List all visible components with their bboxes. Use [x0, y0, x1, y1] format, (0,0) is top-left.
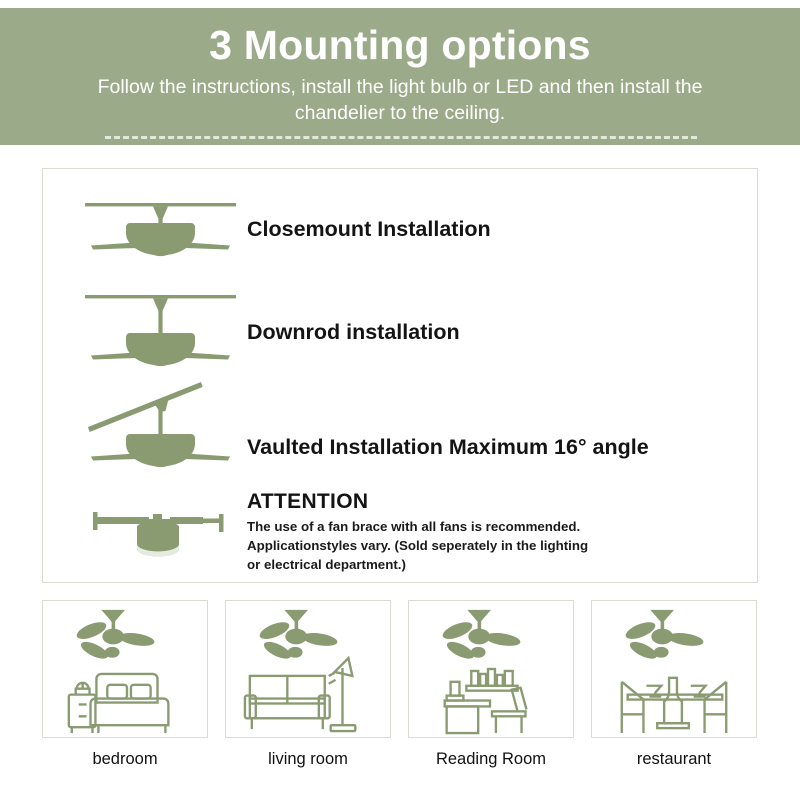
closemount-fan-icon	[83, 193, 238, 267]
downrod-fan-icon	[83, 289, 238, 375]
vaulted-fan-icon	[83, 379, 238, 475]
instruction-label-closemount: Closemount Installation	[247, 217, 491, 242]
room-gallery: bedroom	[42, 600, 758, 790]
instruction-label-vaulted: Vaulted Installation Maximum 16° angle	[247, 435, 649, 460]
attention-line: or electrical department.)	[247, 556, 717, 575]
instruction-row-downrod: Downrod installation	[43, 289, 757, 375]
room-caption-living-room: living room	[225, 750, 391, 769]
room-card-living-room[interactable]	[225, 600, 391, 738]
bedroom-scene-icon	[43, 601, 207, 737]
fan-brace-icon	[83, 500, 238, 570]
room-card-reading-room[interactable]	[408, 600, 574, 738]
attention-line: The use of a fan brace with all fans is …	[247, 518, 717, 537]
room-caption-reading-room: Reading Room	[408, 750, 574, 769]
attention-block: ATTENTION The use of a fan brace with al…	[247, 490, 717, 575]
instruction-row-vaulted: Vaulted Installation Maximum 16° angle	[43, 379, 757, 475]
room-card-restaurant[interactable]	[591, 600, 757, 738]
attention-line: Applicationstyles vary. (Sold seperately…	[247, 537, 717, 556]
page-subtitle: Follow the instructions, install the lig…	[70, 75, 730, 126]
instruction-label-downrod: Downrod installation	[247, 320, 460, 345]
restaurant-scene-icon	[592, 601, 756, 737]
room-caption-bedroom: bedroom	[42, 750, 208, 769]
instruction-panel: Closemount Installation Downrod installa…	[42, 168, 758, 583]
dashed-rule-icon	[105, 136, 697, 139]
reading-room-scene-icon	[409, 601, 573, 737]
instruction-row-closemount: Closemount Installation	[43, 193, 757, 267]
living-room-scene-icon	[226, 601, 390, 737]
room-card-bedroom[interactable]	[42, 600, 208, 738]
header-banner: 3 Mounting options Follow the instructio…	[0, 8, 800, 145]
room-caption-restaurant: restaurant	[591, 750, 757, 769]
attention-heading: ATTENTION	[247, 490, 717, 514]
page-title: 3 Mounting options	[0, 8, 800, 66]
